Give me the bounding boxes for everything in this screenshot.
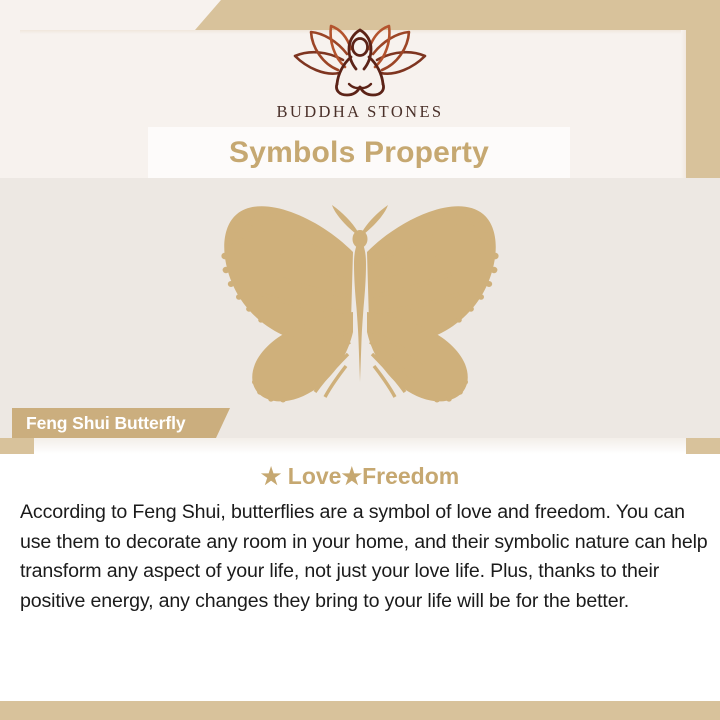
status-badge-label: Feng Shui Butterfly [26, 413, 186, 434]
subheading: ★ Love★Freedom [0, 463, 720, 490]
header: BUDDHA STONES [0, 0, 720, 127]
brand-logo: BUDDHA STONES [0, 24, 720, 122]
butterfly-icon [195, 192, 525, 404]
brand-name: BUDDHA STONES [276, 102, 443, 122]
description-paragraph: According to Feng Shui, butterflies are … [20, 498, 710, 616]
frame-band-bottom [0, 701, 720, 720]
promo-graphic-page: BUDDHA STONES Symbols Property [0, 0, 720, 720]
illustration-wrap [0, 192, 720, 404]
description-panel: ★ Love★Freedom According to Feng Shui, b… [0, 454, 720, 701]
title-banner: Symbols Property [148, 127, 570, 178]
illustration-section [0, 178, 720, 438]
status-badge: Feng Shui Butterfly [12, 408, 230, 438]
page-title: Symbols Property [229, 136, 489, 170]
lotus-meditation-figure-icon [281, 24, 439, 98]
section-transition-strip [34, 438, 686, 454]
